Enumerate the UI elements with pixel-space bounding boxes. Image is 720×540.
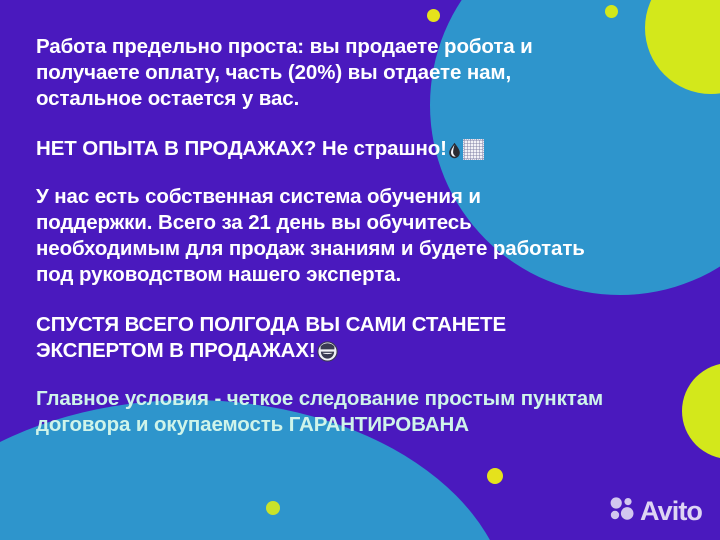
decorative-dot-lime-top-right <box>605 5 618 18</box>
paragraph-main-condition: Главное условия - четкое следование прос… <box>36 386 696 438</box>
avito-wordmark: Avito <box>640 498 702 525</box>
paragraph-become-expert: СПУСТЯ ВСЕГО ПОЛГОДА ВЫ САМИ СТАНЕТЕ ЭКС… <box>36 312 696 364</box>
paragraph-offer-terms: Работа предельно проста: вы продаете роб… <box>36 34 696 112</box>
pointing-hand-icon <box>448 140 461 157</box>
avito-watermark: Avito <box>609 496 702 526</box>
paragraph-training-system: У нас есть собственная система обучения … <box>36 184 696 288</box>
decorative-dot-lime-bottom-left <box>266 501 280 515</box>
decorative-dot-yellow-bottom <box>487 468 503 484</box>
avito-dots-icon <box>609 496 635 526</box>
decorative-dot-yellow-top <box>427 9 440 22</box>
poster-text-block: Работа предельно проста: вы продаете роб… <box>36 34 696 438</box>
grinning-smiley-icon <box>317 341 338 362</box>
paragraph-no-experience-text: НЕТ ОПЫТА В ПРОДАЖАХ? Не страшно! <box>36 137 447 160</box>
paragraph-become-expert-text: СПУСТЯ ВСЕГО ПОЛГОДА ВЫ САМИ СТАНЕТЕ ЭКС… <box>36 313 506 362</box>
poster-canvas: Работа предельно проста: вы продаете роб… <box>0 0 720 540</box>
missing-glyph-box-icon <box>463 139 484 160</box>
paragraph-no-experience: НЕТ ОПЫТА В ПРОДАЖАХ? Не страшно! <box>36 136 696 162</box>
